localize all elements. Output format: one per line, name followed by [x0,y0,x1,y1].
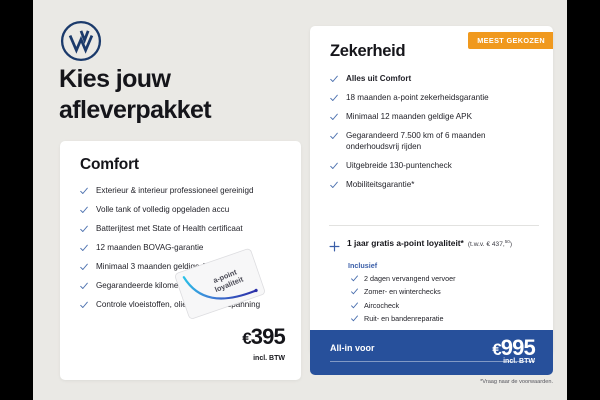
footnote: *Vraag naar de voorwaarden. [480,379,553,385]
comfort-title: Comfort [80,156,139,174]
volkswagen-logo [60,20,102,62]
divider [329,225,539,226]
list-item-label: Uitgebreide 130-puntencheck [346,161,452,170]
list-item: Zomer- en winterchecks [350,287,456,296]
status-badge: MEEST GEKOZEN [468,32,553,49]
promo-canvas: Kies jouw afleverpakket Comfort Exterieu… [33,0,567,400]
list-item: Ruit- en bandenreparatie [350,314,456,323]
check-icon [79,262,89,272]
check-icon [79,281,89,291]
check-icon [329,131,339,141]
zekerheid-package-card[interactable]: MEEST GEKOZEN Zekerheid Alles uit Comfor… [310,26,553,354]
list-item-label: 2 dagen vervangend vervoer [364,274,456,283]
list-item-label: Mobiliteitsgarantie* [346,180,414,189]
list-item-label: Alles uit Comfort [346,74,411,83]
comfort-vat-note: incl. BTW [253,355,285,362]
check-icon [79,300,89,310]
list-item: Gegarandeerde kilometerstand [79,280,289,291]
list-item-label: Minimaal 12 maanden geldige APK [346,112,472,121]
price-amount: 995 [501,335,535,360]
list-item: Minimaal 12 maanden geldige APK [329,111,539,122]
list-item: Minimaal 3 maanden geldige APK [79,261,289,272]
list-item-label: Zomer- en winterchecks [364,287,441,296]
list-item: Gegarandeerd 7.500 km of 6 maanden onder… [329,130,539,153]
price-amount: 395 [251,324,285,349]
comfort-price: €395 [242,324,285,350]
list-item: Alles uit Comfort [329,73,539,84]
check-icon [79,224,89,234]
list-item: 2 dagen vervangend vervoer [350,274,456,283]
list-item: Controle vloeistoffen, olie en bandenspa… [79,299,289,310]
zekerheid-title: Zekerheid [330,42,405,61]
list-item-label: Exterieur & interieur professioneel gere… [96,186,253,195]
inclusief-label: Inclusief [348,261,377,270]
loyalty-title: 1 jaar gratis a-point loyaliteit* [347,238,464,248]
zekerheid-feature-list: Alles uit Comfort 18 maanden a-point zek… [329,73,539,198]
list-item-label: 18 maanden a-point zekerheidsgarantie [346,93,489,102]
screenshot-stage: Kies jouw afleverpakket Comfort Exterieu… [0,0,600,400]
list-item: Mobiliteitsgarantie* [329,179,539,190]
list-item: Aircocheck [350,301,456,310]
list-item-label: Controle vloeistoffen, olie en bandenspa… [96,300,260,309]
list-item: 12 maanden BOVAG-garantie [79,242,289,253]
currency-symbol: € [242,329,250,348]
list-item: Volle tank of volledig opgeladen accu [79,204,289,215]
list-item-label: Volle tank of volledig opgeladen accu [96,205,229,214]
check-icon [350,301,359,310]
loyalty-title-line: 1 jaar gratis a-point loyaliteit*(t.w.v.… [329,238,539,248]
check-icon [79,205,89,215]
list-item: 18 maanden a-point zekerheidsgarantie [329,92,539,103]
check-icon [350,274,359,283]
list-item: Uitgebreide 130-puntencheck [329,160,539,171]
loyalty-worth: (t.w.v. € 437,50) [468,241,512,248]
list-item-label: 12 maanden BOVAG-garantie [96,243,203,252]
comfort-package-card[interactable]: Comfort Exterieur & interieur profession… [60,141,301,380]
comfort-feature-list: Exterieur & interieur professioneel gere… [79,185,289,318]
page-title: Kies jouw afleverpakket [59,64,299,125]
check-icon [329,74,339,84]
check-icon [329,112,339,122]
loyalty-offer-row: 1 jaar gratis a-point loyaliteit*(t.w.v.… [329,238,539,248]
currency-symbol: € [492,340,500,359]
loyalty-worth-prefix: (t.w.v. € 437, [468,241,505,248]
list-item-label: Gegarandeerde kilometerstand [96,281,208,290]
list-item-label: Batterijtest met State of Health certifi… [96,224,243,233]
list-item-label: Gegarandeerd 7.500 km of 6 maanden onder… [346,131,486,151]
allin-label: All-in voor [330,343,375,353]
loyalty-worth-suffix: ) [510,241,512,248]
inclusief-list: 2 dagen vervangend vervoer Zomer- en win… [350,274,456,327]
zekerheid-vat-note: incl. BTW [503,358,535,365]
plus-icon [329,239,340,250]
list-item-label: Ruit- en bandenreparatie [364,314,444,323]
check-icon [329,161,339,171]
list-item: Batterijtest met State of Health certifi… [79,223,289,234]
list-item-label: Aircocheck [364,301,399,310]
list-item: Exterieur & interieur professioneel gere… [79,185,289,196]
check-icon [350,287,359,296]
check-icon [79,186,89,196]
check-icon [350,314,359,323]
check-icon [79,243,89,253]
check-icon [329,180,339,190]
list-item-label: Minimaal 3 maanden geldige APK [96,262,217,271]
zekerheid-price-bar[interactable]: All-in voor €995 incl. BTW [310,330,553,375]
check-icon [329,93,339,103]
